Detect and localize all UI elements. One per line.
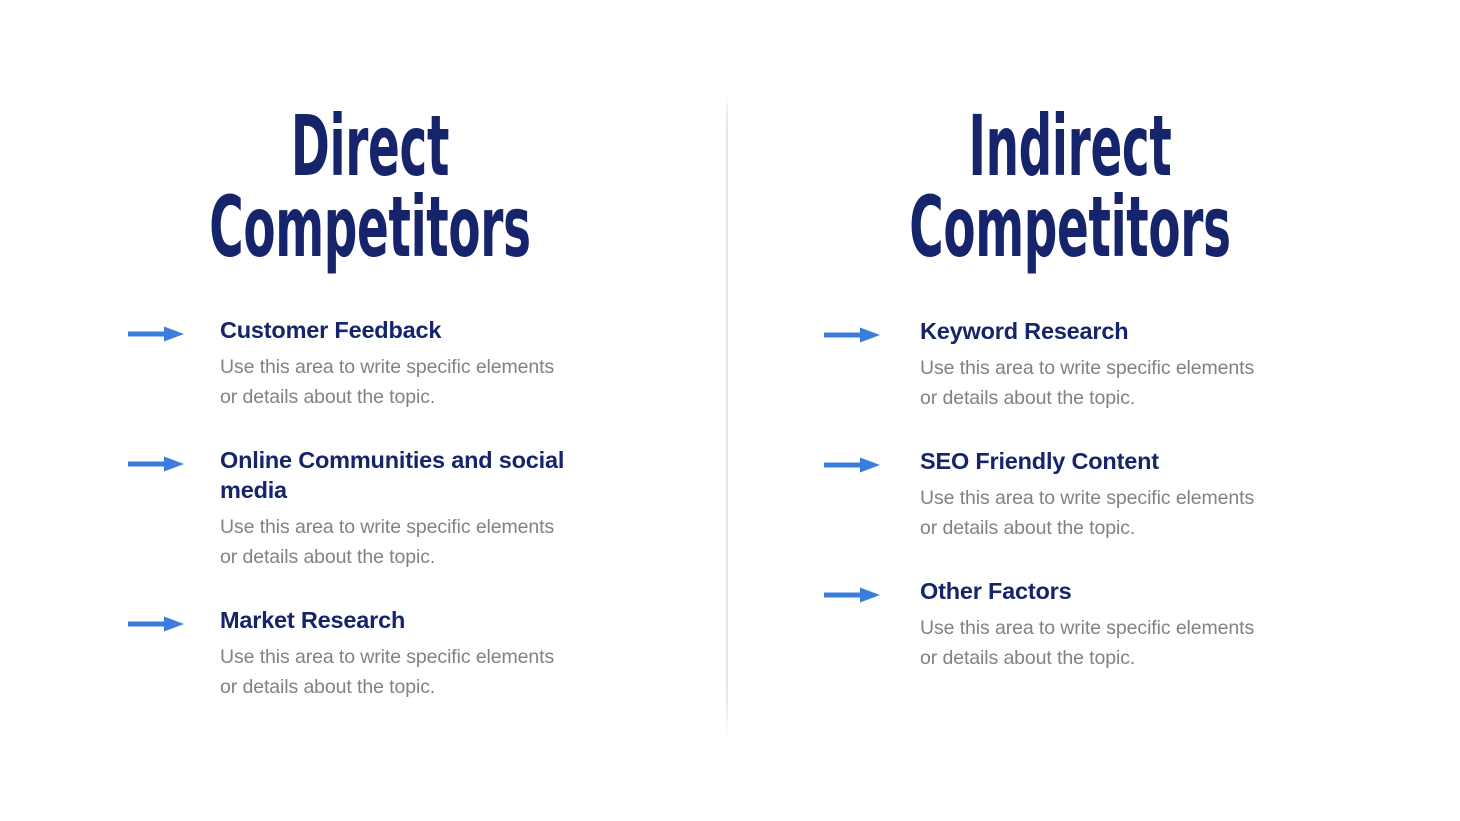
- list-item-body-line-2: or details about the topic.: [920, 513, 1340, 543]
- column-divider: [726, 92, 728, 738]
- column-title-line-1: Indirect: [878, 106, 1262, 187]
- arrow-right-icon: [128, 454, 184, 474]
- list-item-body-line-2: or details about the topic.: [920, 383, 1340, 413]
- list-item-body-line-1: Use this area to write specific elements: [920, 613, 1340, 643]
- column-title-line-1: Direct: [178, 106, 562, 187]
- item-list-indirect: Keyword Research Use this area to write …: [760, 316, 1380, 673]
- list-item-title: Market Research: [220, 605, 575, 635]
- list-item-body-line-2: or details about the topic.: [220, 542, 640, 572]
- list-item[interactable]: Market Research Use this area to write s…: [60, 605, 680, 702]
- arrow-right-icon: [128, 324, 184, 344]
- arrow-right-icon: [128, 614, 184, 634]
- list-item-body: Use this area to write specific elements…: [220, 642, 640, 702]
- list-item-title: SEO Friendly Content: [920, 446, 1275, 476]
- arrow-right-icon: [824, 585, 880, 605]
- column-title-line-2: Competitors: [178, 187, 562, 268]
- column-indirect-competitors: Indirect Competitors Keyword Research Us…: [760, 0, 1380, 821]
- list-item[interactable]: Keyword Research Use this area to write …: [760, 316, 1380, 413]
- list-item-title: Customer Feedback: [220, 315, 575, 345]
- list-item-body-line-2: or details about the topic.: [920, 643, 1340, 673]
- arrow-right-icon: [824, 455, 880, 475]
- list-item[interactable]: Other Factors Use this area to write spe…: [760, 576, 1380, 673]
- arrow-right-icon: [824, 325, 880, 345]
- column-direct-competitors: Direct Competitors Customer Feedback Use…: [60, 0, 680, 821]
- list-item-title: Online Communities and social media: [220, 445, 575, 505]
- list-item-body-line-1: Use this area to write specific elements: [920, 483, 1340, 513]
- list-item[interactable]: Online Communities and social media Use …: [60, 445, 680, 572]
- list-item-title: Other Factors: [920, 576, 1275, 606]
- list-item-body-line-1: Use this area to write specific elements: [220, 352, 640, 382]
- column-title-direct: Direct Competitors: [178, 106, 562, 269]
- list-item-body-line-1: Use this area to write specific elements: [920, 353, 1340, 383]
- list-item[interactable]: Customer Feedback Use this area to write…: [60, 315, 680, 412]
- list-item-body-line-1: Use this area to write specific elements: [220, 512, 640, 542]
- list-item-body-line-2: or details about the topic.: [220, 382, 640, 412]
- list-item-body: Use this area to write specific elements…: [920, 483, 1340, 543]
- slide-canvas: Direct Competitors Customer Feedback Use…: [0, 0, 1460, 821]
- list-item-body-line-2: or details about the topic.: [220, 672, 640, 702]
- list-item-body: Use this area to write specific elements…: [220, 352, 640, 412]
- list-item-body-line-1: Use this area to write specific elements: [220, 642, 640, 672]
- list-item-body: Use this area to write specific elements…: [920, 353, 1340, 413]
- column-title-indirect: Indirect Competitors: [878, 106, 1262, 269]
- item-list-direct: Customer Feedback Use this area to write…: [60, 315, 680, 702]
- list-item-body: Use this area to write specific elements…: [220, 512, 640, 572]
- list-item-body: Use this area to write specific elements…: [920, 613, 1340, 673]
- list-item[interactable]: SEO Friendly Content Use this area to wr…: [760, 446, 1380, 543]
- column-title-line-2: Competitors: [878, 187, 1262, 268]
- list-item-title: Keyword Research: [920, 316, 1275, 346]
